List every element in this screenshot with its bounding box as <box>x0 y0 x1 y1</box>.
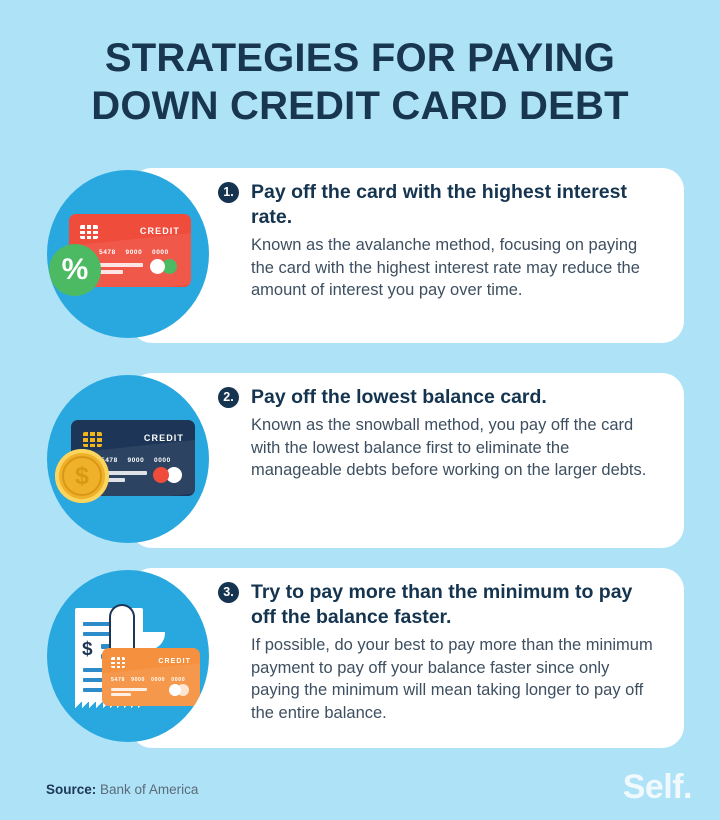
card-signature-strip <box>99 263 143 267</box>
card-number-2: 5478 9000 0000 <box>101 457 171 464</box>
source-value: Bank of America <box>100 782 198 797</box>
card-number-1: 5478 9000 0000 <box>99 249 169 256</box>
dollar-coin-glyph: $ <box>62 456 102 496</box>
card-chip-icon <box>83 432 102 447</box>
illustration-circle-2: CREDIT 5478 9000 0000 $ <box>47 375 209 543</box>
illustration-circle-1: CREDIT 5478 9000 0000 % <box>47 170 209 338</box>
strategy-item-2: 2. Pay off the lowest balance card. Know… <box>0 373 720 548</box>
card-signature-strip-2 <box>99 270 123 274</box>
card-network-logo-a <box>153 467 169 483</box>
source-label: Source: <box>46 782 96 797</box>
page-title: STRATEGIES FOR PAYING DOWN CREDIT CARD D… <box>0 34 720 130</box>
strategy-headline-2: Pay off the lowest balance card. <box>251 385 662 410</box>
strategy-text-2: Pay off the lowest balance card. Known a… <box>251 385 662 482</box>
strategy-panel-2: 2. Pay off the lowest balance card. Know… <box>130 373 684 548</box>
card-brand-label-2: CREDIT <box>144 433 184 443</box>
strategy-item-3: 3. Try to pay more than the minimum to p… <box>0 568 720 748</box>
strategy-panel-1: 1. Pay off the card with the highest int… <box>130 168 684 343</box>
step-number-badge-1: 1. <box>218 182 239 203</box>
card-network-logo-a <box>169 684 181 696</box>
strategy-headline-1: Pay off the card with the highest intere… <box>251 180 662 230</box>
percent-badge-icon: % <box>49 244 101 296</box>
strategy-panel-3: 3. Try to pay more than the minimum to p… <box>130 568 684 748</box>
brand-logo-self: Self. <box>623 768 692 807</box>
strategy-body-2: Known as the snowball method, you pay of… <box>251 414 662 482</box>
step-number-badge-3: 3. <box>218 582 239 603</box>
card-network-logo-a <box>150 259 165 274</box>
card-number-3: 5478 9000 0000 0000 <box>111 677 185 683</box>
card-chip-icon <box>80 225 98 239</box>
illustration-circle-3: $ CREDIT 5478 9000 0000 0000 <box>47 570 209 742</box>
step-number-badge-2: 2. <box>218 387 239 408</box>
credit-card-orange-icon: CREDIT 5478 9000 0000 0000 <box>102 648 200 706</box>
strategy-headline-3: Try to pay more than the minimum to pay … <box>251 580 662 630</box>
strategy-item-1: 1. Pay off the card with the highest int… <box>0 168 720 343</box>
card-signature-strip-2 <box>111 693 131 696</box>
strategy-body-3: If possible, do your best to pay more th… <box>251 634 662 724</box>
page-title-line-1: STRATEGIES FOR PAYING <box>38 34 682 82</box>
dollar-coin-icon: $ <box>55 449 109 503</box>
card-chip-icon <box>111 657 125 668</box>
card-signature-strip <box>111 688 147 691</box>
card-brand-label-3: CREDIT <box>158 658 191 665</box>
card-brand-label-1: CREDIT <box>140 226 180 236</box>
strategy-text-1: Pay off the card with the highest intere… <box>251 180 662 302</box>
strategy-body-1: Known as the avalanche method, focusing … <box>251 234 662 302</box>
page-title-line-2: DOWN CREDIT CARD DEBT <box>38 82 682 130</box>
strategy-text-3: Try to pay more than the minimum to pay … <box>251 580 662 724</box>
source-attribution: Source: Bank of America <box>46 782 198 797</box>
receipt-dollar-glyph: $ <box>82 640 93 659</box>
